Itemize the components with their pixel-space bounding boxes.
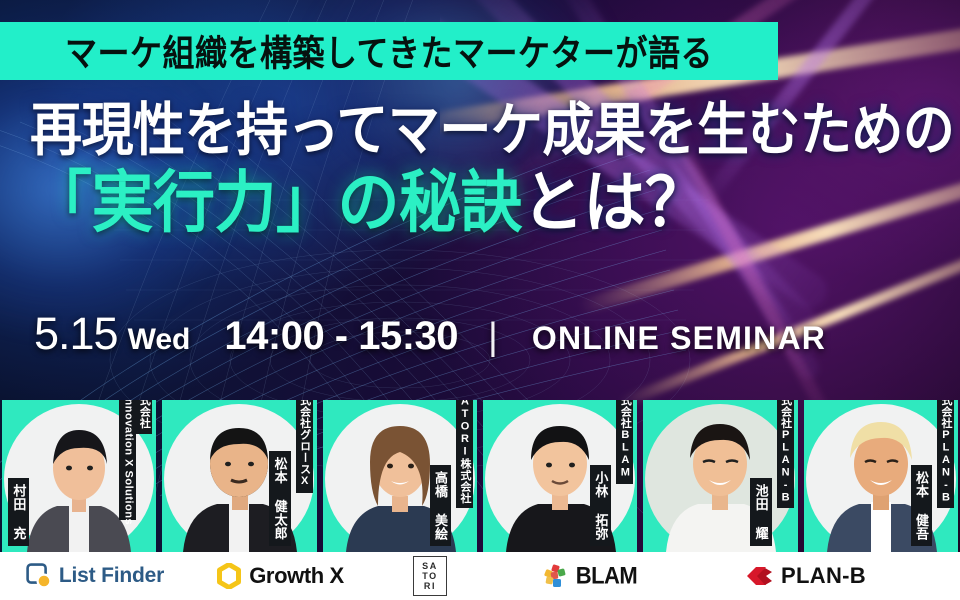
logo-satori[interactable]: SA TO RI [370,552,490,600]
speaker-strip: 株式会社 Innovation X Solutions 村田 充 [0,400,960,552]
speaker-org-jp: 株式会社BLAM [619,400,631,479]
speaker-card[interactable]: 株式会社グロースX 松本 健太郎 [162,400,316,552]
speaker-name: 小林 拓弥 [593,471,608,541]
speaker-name: 松本 健太郎 [273,457,288,540]
red-chevron-icon [744,563,774,589]
speaker-name: 池田 耀 [754,484,769,540]
sponsor-logo-bar: List Finder Growth X SA TO RI [0,552,960,600]
headline-tail-text: とは？ [522,166,707,241]
speaker-name: 村田 充 [11,484,26,540]
speaker-name-label: 松本 健太郎 [269,451,290,546]
satori-row-3: RI [424,582,436,591]
event-date: 5.15 [34,308,118,360]
headline-line-1: 再現性を持ってマーケ成果を生むための [30,100,930,162]
logo-list-finder[interactable]: List Finder [0,552,190,600]
speaker-org-jp: 株式会社PLAN-B [780,400,792,504]
speaker-card[interactable]: 株式会社PLAN-B 松本 健吾 [804,400,958,552]
speaker-org-label: 株式会社BLAM [616,400,633,484]
banner-text: マーケ組織を構築してきたマーケターが語る [65,25,713,77]
speaker-org-label: SATORI株式会社 [456,400,473,508]
seminar-poster: マーケ組織を構築してきたマーケターが語る 再現性を持ってマーケ成果を生むための … [0,0,960,600]
speaker-name-label: 小林 拓弥 [590,465,611,547]
speaker-name-label: 松本 健吾 [911,465,932,547]
speaker-card[interactable]: SATORI株式会社 高橋 美絵 [323,400,477,552]
hexagon-ring-icon [216,563,242,589]
speaker-org-label: 株式会社PLAN-B [937,400,954,508]
logo-plan-b-text: PLAN-B [781,563,866,589]
speaker-org-label: 株式会社PLAN-B [777,400,794,508]
satori-row-1: SA [422,562,438,571]
speaker-name-label: 高橋 美絵 [430,465,451,547]
speaker-name-label: 村田 充 [8,478,29,546]
logo-blam-text: BLAM [576,562,638,590]
event-type: ONLINE SEMINAR [532,320,826,357]
logo-blam[interactable]: BLAM [490,552,690,600]
logo-plan-b[interactable]: PLAN-B [690,552,920,600]
headline-line-2: 「実行力」の秘訣とは？ [30,166,930,241]
rounded-square-dot-icon [26,563,52,589]
speaker-card[interactable]: 株式会社BLAM 小林 拓弥 [483,400,637,552]
speaker-org-jp: 株式会社グロースX [299,400,311,488]
speaker-org-label: 株式会社グロースX [296,400,313,493]
speaker-name: 松本 健吾 [914,471,929,541]
event-time: 14:00 - 15:30 [224,314,458,359]
speaker-card[interactable]: 株式会社PLAN-B 池田 耀 [643,400,797,552]
meta-separator: | [488,316,498,359]
satori-box-icon: SA TO RI [413,556,447,596]
speaker-org-jp: 株式会社 [138,400,150,429]
logo-growth-x[interactable]: Growth X [190,552,370,600]
speaker-name-label: 池田 耀 [750,478,771,546]
speaker-org-latin: Innovation X Solutions [122,400,134,525]
speaker-name: 高橋 美絵 [433,471,448,541]
event-weekday: Wed [128,323,191,357]
headline-accent-text: 「実行力」の秘訣 [30,166,522,241]
event-meta-row: 5.15 Wed 14:00 - 15:30 | ONLINE SEMINAR [34,308,826,360]
satori-row-2: TO [422,572,438,581]
color-cluster-icon [543,563,569,589]
speaker-org-latin-label: Innovation X Solutions [119,400,136,520]
speaker-org-jp: 株式会社PLAN-B [940,400,952,504]
speaker-org-jp: SATORI株式会社 [459,400,471,504]
top-banner: マーケ組織を構築してきたマーケターが語る [0,22,778,80]
speaker-org-label: 株式会社 [135,400,152,434]
headline-block: 再現性を持ってマーケ成果を生むための 「実行力」の秘訣とは？ [30,100,930,236]
logo-list-finder-text: List Finder [59,564,164,588]
logo-growth-x-text: Growth X [249,563,344,589]
speaker-card[interactable]: 株式会社 Innovation X Solutions 村田 充 [2,400,156,552]
